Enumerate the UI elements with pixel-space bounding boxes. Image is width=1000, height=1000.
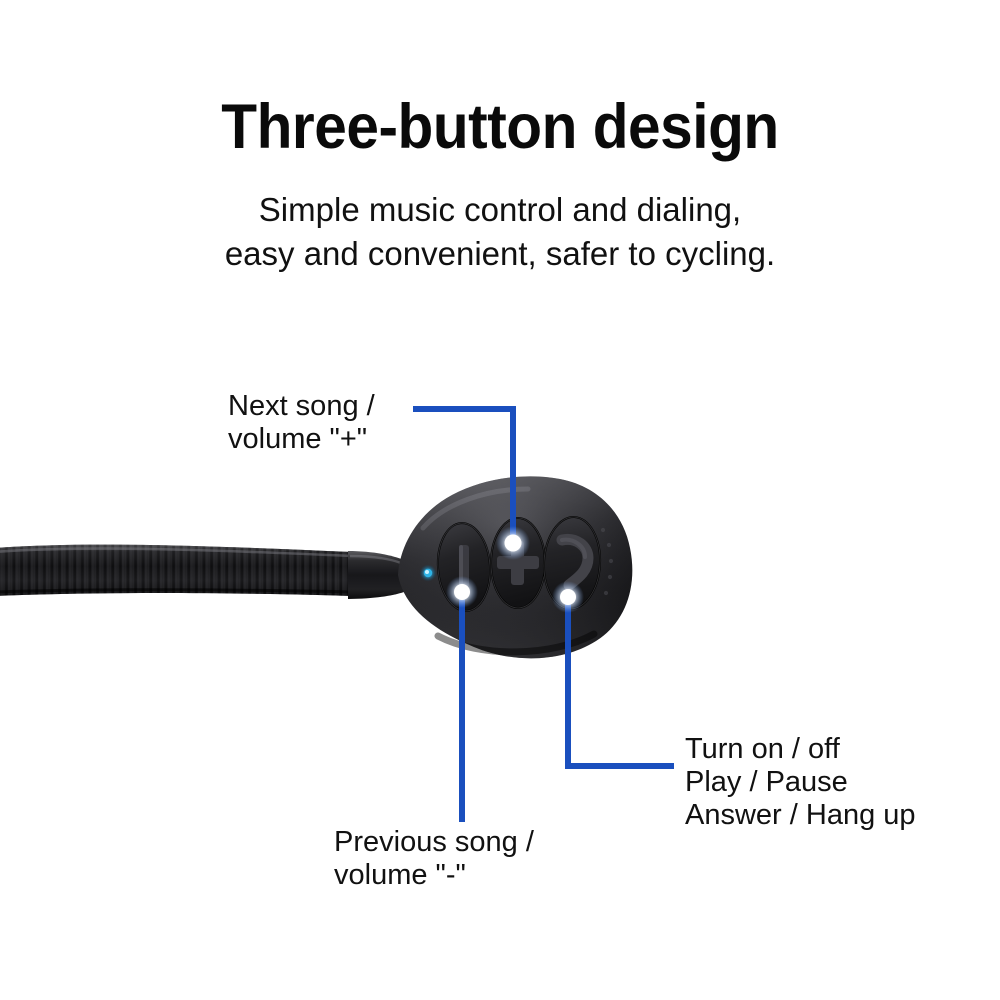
- callout-label-previous-song: Previous song / volume "-": [334, 826, 534, 892]
- callout-next-line-1: Next song /: [228, 390, 375, 423]
- plus-button[interactable]: [491, 518, 545, 608]
- callout-next-line-2: volume "+": [228, 423, 375, 456]
- flexible-neckband-cable: [0, 545, 352, 596]
- callout-label-power: Turn on / off Play / Pause Answer / Hang…: [685, 733, 916, 832]
- callout-prev-line-2: volume "-": [334, 859, 534, 892]
- subtitle-line-2: easy and convenient, safer to cycling.: [0, 232, 1000, 276]
- callout-prev-line-1: Previous song /: [334, 826, 534, 859]
- cable-joint: [348, 551, 404, 599]
- page-title: Three-button design: [35, 92, 965, 162]
- callout-power-line-1: Turn on / off: [685, 733, 916, 766]
- callout-power-line-2: Play / Pause: [685, 766, 916, 799]
- infographic-canvas: Three-button design Simple music control…: [0, 0, 1000, 1000]
- status-led: [420, 565, 437, 582]
- callout-label-next-song: Next song / volume "+": [228, 390, 375, 456]
- subtitle-line-1: Simple music control and dialing,: [0, 188, 1000, 232]
- page-subtitle: Simple music control and dialing, easy a…: [0, 188, 1000, 276]
- callout-power-line-3: Answer / Hang up: [685, 799, 916, 832]
